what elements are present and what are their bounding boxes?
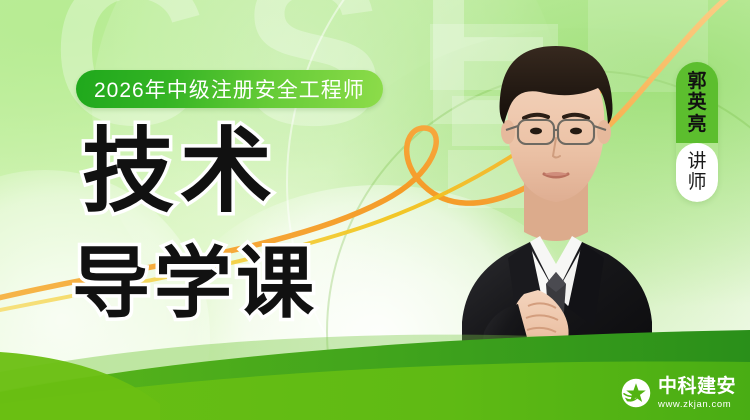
title-line-1: 技术 [82,126,402,218]
instructor-role: 讲 师 [676,143,718,203]
instructor-name-char-1: 郭 [687,71,706,92]
title-line-2: 导学课 [72,244,402,322]
instructor-name-char-2: 英 [687,92,706,113]
instructor-role-char-1: 讲 [687,151,706,172]
course-badge[interactable]: 2026年中级注册安全工程师 [76,70,383,108]
zkjan-star-icon [621,378,651,408]
brand-logo[interactable]: 中科建安 www.zkjan.com [621,377,736,410]
instructor-role-char-2: 师 [687,172,706,193]
instructor-name-char-3: 亮 [687,114,706,135]
brand-logo-text: 中科建安 www.zkjan.com [658,377,736,410]
course-badge-label: 2026年中级注册安全工程师 [94,74,365,104]
page-title: 技术 导学课 [72,126,402,322]
brand-url: www.zkjan.com [658,399,736,410]
instructor-name: 郭 英 亮 [676,62,718,143]
instructor-badge[interactable]: 郭 英 亮 讲 师 [676,62,718,202]
brand-name: 中科建安 [658,377,736,397]
course-banner: CSE [0,0,750,420]
